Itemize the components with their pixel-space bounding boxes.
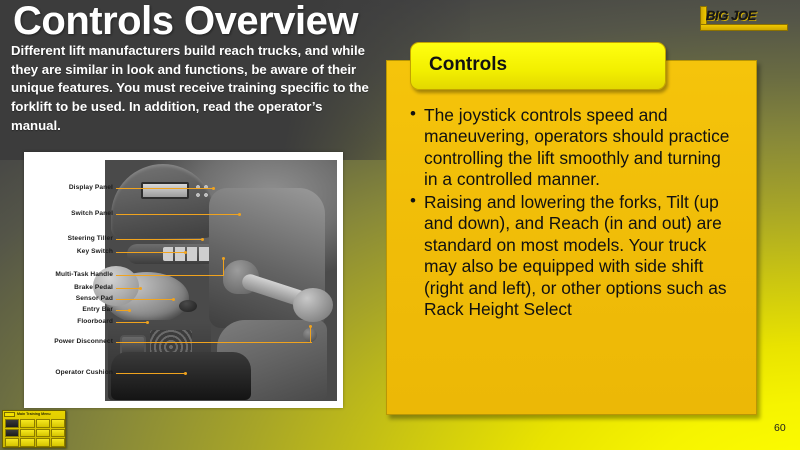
thumbnail-cell [36,429,50,438]
big-joe-logo: BIG JOE [700,6,792,32]
bullet-marker-icon: • [410,104,416,125]
thumbnail-cell [51,429,65,438]
control-panel-diagram: Display Panel Switch Panel Steering Till… [24,152,343,408]
thumbnail-cell [5,419,19,428]
thumbnail-cell [20,438,34,447]
controls-header-label: Controls [429,54,507,76]
callout-label-sensor-pad: Sensor Pad [45,295,113,302]
thumbnail-cell [20,429,34,438]
callout-label-entry-bar: Entry Bar [45,306,113,313]
leader-line-brake-pedal [116,288,141,289]
callout-label-key-switch: Key Switch [40,248,113,255]
callout-label-floorboard: Floorboard [45,318,113,325]
dashboard-cluster [111,164,215,238]
leader-line-key-switch [116,252,186,253]
list-item: • Raising and lowering the forks, Tilt (… [409,192,739,321]
page-number: 60 [774,422,786,434]
leader-line-multi-task-handle [116,275,224,276]
callout-label-power-disconnect: Power Disconnect [27,338,113,345]
leader-riser-power-disconnect [310,327,311,342]
thumbnail-cell [36,438,50,447]
leader-line-operator-cushion [116,373,186,374]
switch-panel-keys [163,247,213,261]
bullet-text: The joystick controls speed and maneuver… [424,105,729,189]
thumbnail-title: Main Training Menu [17,412,51,416]
thumbnail-cell [20,419,34,428]
thumbnail-cell [51,438,65,447]
bullet-text: Raising and lowering the forks, Tilt (up… [424,192,727,319]
leader-line-switch-panel [116,214,240,215]
thumbnail-cell [5,429,19,438]
dashboard-indicator-dots [195,184,213,198]
callout-label-multi-task-handle: Multi-Task Handle [27,271,113,278]
leader-line-power-disconnect [116,342,312,343]
logo-bar-horizontal [700,24,788,31]
leader-line-sensor-pad [116,299,174,300]
leader-line-display-panel [116,188,214,189]
callout-label-brake-pedal: Brake Pedal [45,284,113,291]
thumbnail-logo-icon [4,412,15,417]
thumbnail-cell [51,419,65,428]
callout-label-steering-tiller: Steering Tiller [34,235,113,242]
callout-label-display-panel: Display Panel [38,184,113,191]
intro-paragraph: Different lift manufacturers build reach… [11,42,373,136]
reach-truck-cab-photo [105,160,337,401]
logo-wordmark: BIG JOE [706,8,756,23]
operator-cushion [111,352,251,400]
leader-line-floorboard [116,322,148,323]
list-item: • The joystick controls speed and maneuv… [409,105,739,191]
thumbnail-icon-grid [5,419,65,447]
controls-bullet-list: • The joystick controls speed and maneuv… [409,105,739,322]
key-switch-barrel [179,300,197,312]
multi-task-handle-knob [293,288,333,322]
thumbnail-cell [36,419,50,428]
thumbnail-cell [5,438,19,447]
page-title: Controls Overview [13,0,358,45]
callout-label-operator-cushion: Operator Cushion [30,369,113,376]
display-panel-screen [141,182,189,199]
controls-header-pill: Controls [410,42,666,90]
main-training-menu-thumbnail[interactable]: Main Training Menu [2,410,66,448]
callout-label-switch-panel: Switch Panel [38,210,113,217]
controls-content-box: • The joystick controls speed and maneuv… [386,60,757,415]
leader-line-steering-tiller [116,239,203,240]
bullet-marker-icon: • [410,191,416,212]
leader-riser-multi-task-handle [223,259,224,275]
